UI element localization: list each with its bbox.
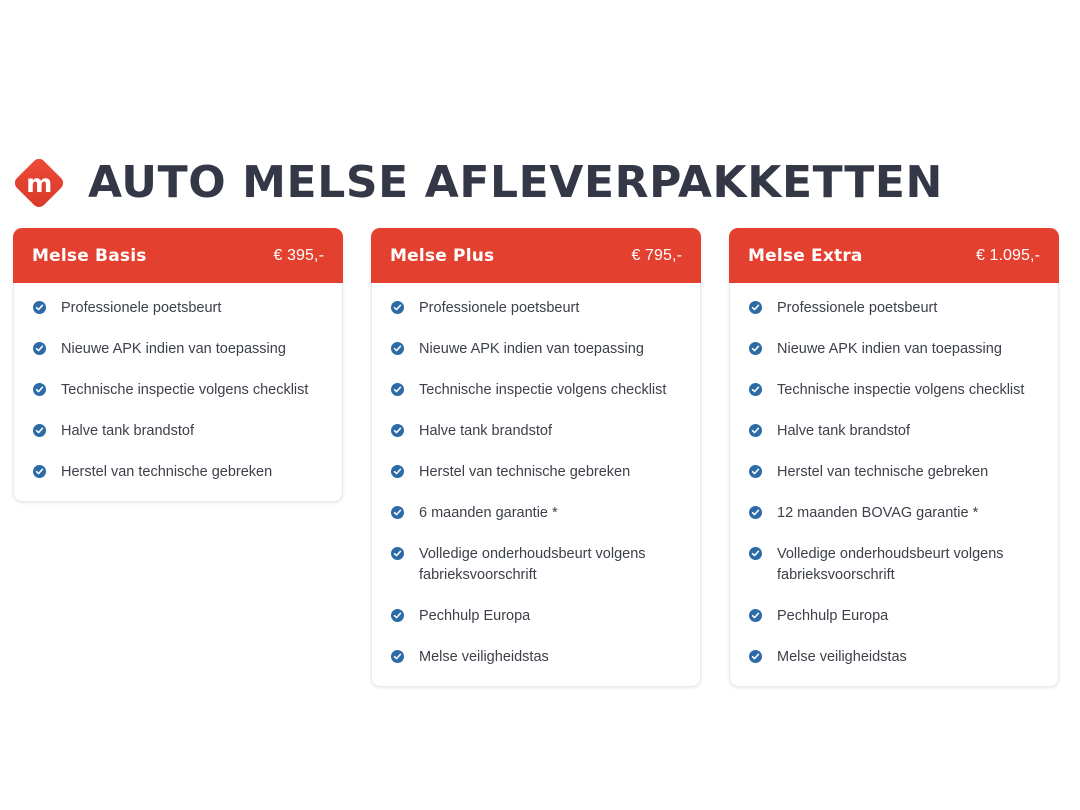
package-feature-item: Nieuwe APK indien van toepassing — [749, 339, 1039, 360]
package-feature-label: Halve tank brandstof — [777, 421, 910, 442]
package-feature-label: Technische inspectie volgens checklist — [61, 380, 308, 401]
package-feature-item: Volledige onderhoudsbeurt volgens fabrie… — [391, 544, 681, 586]
package-feature-label: Volledige onderhoudsbeurt volgens fabrie… — [419, 544, 671, 586]
package-card-header: Melse Plus € 795,- — [371, 228, 701, 283]
package-card-3[interactable]: Melse Extra € 1.095,- Professionele poet… — [729, 228, 1059, 687]
package-feature-item: Technische inspectie volgens checklist — [391, 380, 681, 401]
check-circle-icon — [33, 424, 46, 437]
check-circle-icon — [33, 342, 46, 355]
package-feature-item: Herstel van technische gebreken — [749, 462, 1039, 483]
package-feature-item: Halve tank brandstof — [749, 421, 1039, 442]
package-feature-item: Nieuwe APK indien van toepassing — [391, 339, 681, 360]
package-feature-item: Herstel van technische gebreken — [33, 462, 323, 483]
package-feature-item: Halve tank brandstof — [33, 421, 323, 442]
check-circle-icon — [33, 301, 46, 314]
package-feature-label: Halve tank brandstof — [419, 421, 552, 442]
package-feature-label: Pechhulp Europa — [777, 606, 888, 627]
package-feature-label: Volledige onderhoudsbeurt volgens fabrie… — [777, 544, 1029, 586]
check-circle-icon — [391, 609, 404, 622]
page-title: AUTO MELSE AFLEVERPAKKETTEN — [88, 161, 943, 205]
package-feature-item: Volledige onderhoudsbeurt volgens fabrie… — [749, 544, 1039, 586]
check-circle-icon — [749, 301, 762, 314]
check-circle-icon — [749, 342, 762, 355]
package-feature-label: Professionele poetsbeurt — [419, 298, 579, 319]
check-circle-icon — [391, 301, 404, 314]
check-circle-icon — [749, 609, 762, 622]
package-feature-label: Pechhulp Europa — [419, 606, 530, 627]
package-feature-label: Melse veiligheidstas — [777, 647, 907, 668]
check-circle-icon — [749, 506, 762, 519]
check-circle-icon — [749, 650, 762, 663]
check-circle-icon — [391, 506, 404, 519]
package-feature-item: Nieuwe APK indien van toepassing — [33, 339, 323, 360]
package-feature-label: Herstel van technische gebreken — [419, 462, 630, 483]
package-price: € 395,- — [273, 247, 324, 265]
package-name: Melse Basis — [32, 246, 147, 266]
package-feature-label: Melse veiligheidstas — [419, 647, 549, 668]
package-card-list: Melse Basis € 395,- Professionele poetsb… — [13, 228, 1067, 687]
melse-diamond-logo-icon: m — [13, 157, 65, 209]
package-feature-item: Professionele poetsbeurt — [749, 298, 1039, 319]
check-circle-icon — [749, 547, 762, 560]
package-feature-list: Professionele poetsbeurt Nieuwe APK indi… — [13, 283, 343, 502]
package-feature-item: Professionele poetsbeurt — [33, 298, 323, 319]
check-circle-icon — [391, 465, 404, 478]
check-circle-icon — [391, 342, 404, 355]
package-feature-label: Halve tank brandstof — [61, 421, 194, 442]
check-circle-icon — [391, 650, 404, 663]
package-name: Melse Extra — [748, 246, 863, 266]
check-circle-icon — [391, 383, 404, 396]
package-price: € 1.095,- — [976, 247, 1040, 265]
package-feature-item: Pechhulp Europa — [749, 606, 1039, 627]
package-feature-label: Herstel van technische gebreken — [777, 462, 988, 483]
package-feature-item: 12 maanden BOVAG garantie * — [749, 503, 1039, 524]
package-feature-item: Technische inspectie volgens checklist — [33, 380, 323, 401]
package-feature-item: Professionele poetsbeurt — [391, 298, 681, 319]
package-feature-label: Technische inspectie volgens checklist — [777, 380, 1024, 401]
page-root: m AUTO MELSE AFLEVERPAKKETTEN Melse Basi… — [0, 0, 1080, 810]
package-name: Melse Plus — [390, 246, 494, 266]
package-feature-item: Melse veiligheidstas — [391, 647, 681, 668]
package-feature-item: 6 maanden garantie * — [391, 503, 681, 524]
package-feature-label: Technische inspectie volgens checklist — [419, 380, 666, 401]
page-header: m AUTO MELSE AFLEVERPAKKETTEN — [13, 148, 943, 218]
package-feature-list: Professionele poetsbeurt Nieuwe APK indi… — [371, 283, 701, 687]
package-card-header: Melse Extra € 1.095,- — [729, 228, 1059, 283]
package-feature-label: Nieuwe APK indien van toepassing — [777, 339, 1002, 360]
check-circle-icon — [391, 547, 404, 560]
package-card-1[interactable]: Melse Basis € 395,- Professionele poetsb… — [13, 228, 343, 502]
package-feature-label: Nieuwe APK indien van toepassing — [61, 339, 286, 360]
check-circle-icon — [391, 424, 404, 437]
package-feature-item: Melse veiligheidstas — [749, 647, 1039, 668]
check-circle-icon — [33, 383, 46, 396]
package-feature-label: Professionele poetsbeurt — [777, 298, 937, 319]
package-feature-label: 6 maanden garantie * — [419, 503, 558, 524]
package-feature-item: Herstel van technische gebreken — [391, 462, 681, 483]
package-feature-item: Pechhulp Europa — [391, 606, 681, 627]
logo-letter: m — [13, 157, 65, 209]
package-feature-label: Herstel van technische gebreken — [61, 462, 272, 483]
check-circle-icon — [33, 465, 46, 478]
package-card-2[interactable]: Melse Plus € 795,- Professionele poetsbe… — [371, 228, 701, 687]
package-card-header: Melse Basis € 395,- — [13, 228, 343, 283]
check-circle-icon — [749, 424, 762, 437]
package-feature-item: Halve tank brandstof — [391, 421, 681, 442]
package-feature-label: 12 maanden BOVAG garantie * — [777, 503, 978, 524]
package-feature-label: Nieuwe APK indien van toepassing — [419, 339, 644, 360]
package-feature-list: Professionele poetsbeurt Nieuwe APK indi… — [729, 283, 1059, 687]
check-circle-icon — [749, 465, 762, 478]
package-feature-label: Professionele poetsbeurt — [61, 298, 221, 319]
package-price: € 795,- — [631, 247, 682, 265]
package-feature-item: Technische inspectie volgens checklist — [749, 380, 1039, 401]
check-circle-icon — [749, 383, 762, 396]
